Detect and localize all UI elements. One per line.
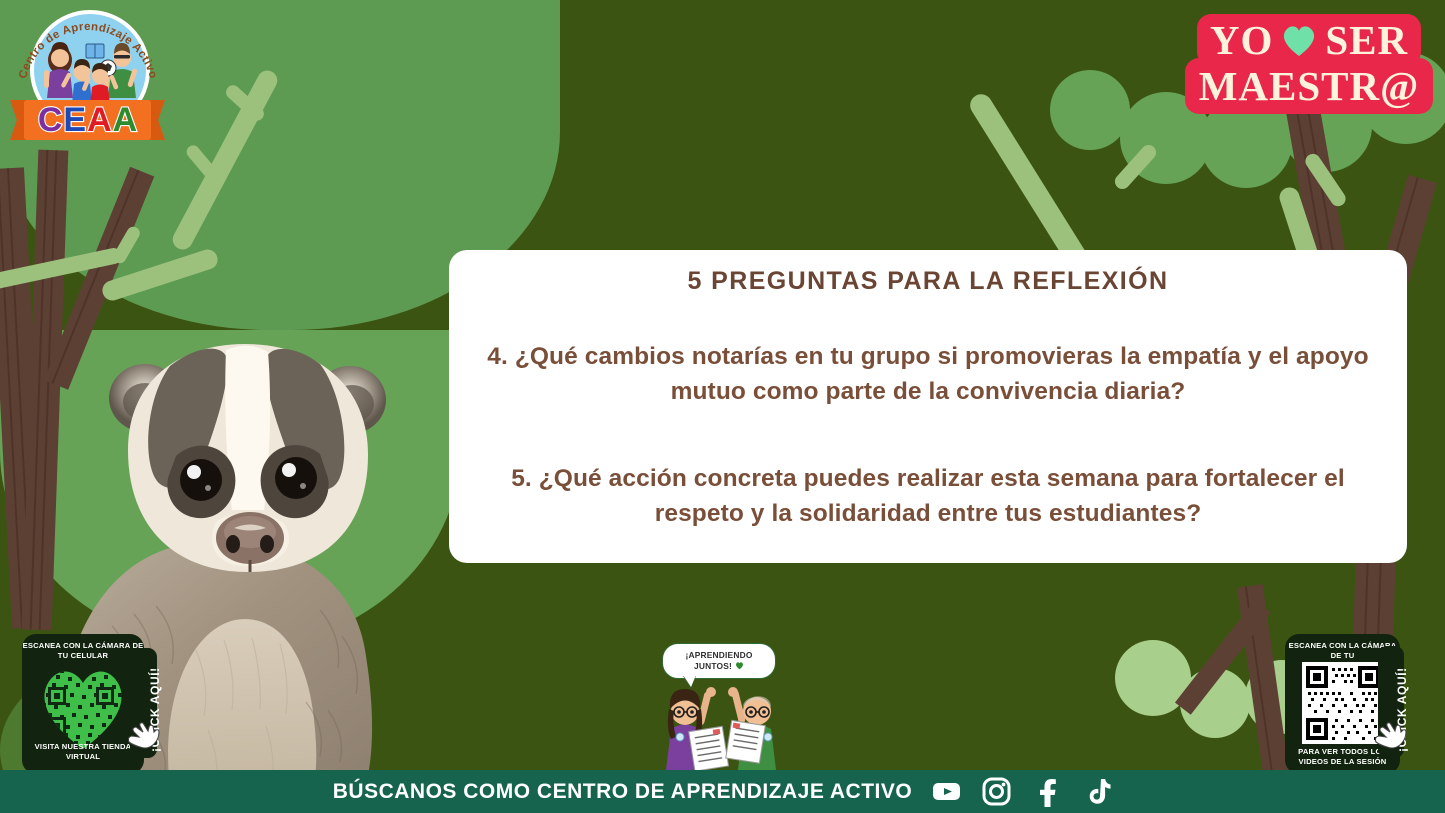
question-5: 5. ¿Qué acción concreta puedes realizar … (475, 462, 1381, 532)
ceaa-letter-c: C (38, 103, 63, 137)
badge-word-yo: YO (1210, 16, 1274, 64)
slide-canvas: Centro de Aprendizaje Activo C E A A YO (0, 0, 1445, 813)
qr-panel-store[interactable]: ESCANEA CON LA CÁMARA DE TU CELULAR (22, 634, 144, 774)
teachers-figures (655, 675, 787, 770)
speech-bubble: ¡APRENDIENDO JUNTOS! (662, 643, 776, 679)
badge-word-ser: SER (1325, 16, 1408, 64)
ceaa-banner: C E A A (10, 94, 165, 146)
instagram-icon[interactable] (981, 776, 1012, 807)
ceaa-letters: C E A A (24, 100, 151, 140)
bubble-line-2-wrap: JUNTOS! (694, 661, 744, 673)
qr-left-caption-top: ESCANEA CON LA CÁMARA DE TU CELULAR (22, 641, 144, 660)
facebook-icon[interactable] (1031, 776, 1062, 807)
reflection-card: 5 PREGUNTAS PARA LA REFLEXIÓN 4. ¿Qué ca… (449, 250, 1407, 563)
footer-text: BÚSCANOS COMO CENTRO DE APRENDIZAJE ACTI… (333, 780, 912, 804)
square-qr-code[interactable] (1302, 662, 1384, 744)
heart-icon (735, 661, 744, 673)
bubble-line-2: JUNTOS! (694, 661, 732, 672)
bubble-line-1: ¡APRENDIENDO (685, 650, 752, 661)
heart-qr-code[interactable] (34, 663, 132, 751)
badge-line-2: MAESTR@ (1185, 58, 1433, 114)
question-4: 4. ¿Qué cambios notarías en tu grupo si … (475, 340, 1381, 410)
ceaa-logo[interactable]: Centro de Aprendizaje Activo C E A A (10, 8, 165, 150)
ceaa-arc-label: Centro de Aprendizaje Activo (17, 21, 159, 80)
teachers-illustration: ¡APRENDIENDO JUNTOS! (655, 643, 787, 770)
heart-icon (1279, 22, 1319, 58)
yo-amo-ser-maestro-badge[interactable]: YO SER MAESTR@ (1185, 14, 1433, 118)
foliage-scallop (338, 64, 416, 142)
ceaa-letter-a1: A (87, 103, 112, 137)
youtube-icon[interactable] (931, 776, 962, 807)
ceaa-letter-e: E (63, 103, 86, 137)
svg-text:Centro de Aprendizaje Activo: Centro de Aprendizaje Activo (17, 21, 159, 80)
pointing-hand-icon (1373, 722, 1407, 752)
pointing-hand-icon (126, 722, 160, 752)
page-title: 5 PREGUNTAS PARA LA REFLEXIÓN (449, 267, 1407, 296)
foliage-scallop (1050, 70, 1130, 150)
tiktok-icon[interactable] (1081, 776, 1112, 807)
ceaa-letter-a2: A (113, 103, 138, 137)
footer-bar: BÚSCANOS COMO CENTRO DE APRENDIZAJE ACTI… (0, 770, 1445, 813)
